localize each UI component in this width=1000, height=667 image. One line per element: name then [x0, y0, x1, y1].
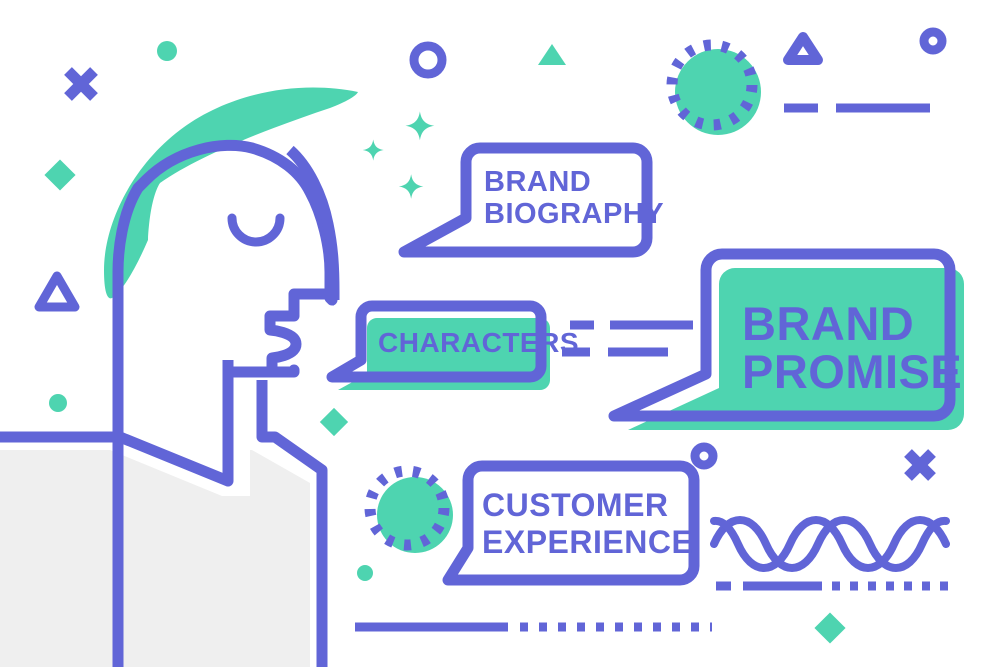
triangle-solid-icon — [538, 44, 566, 65]
bubble-brand-promise-line-2: PROMISE — [742, 345, 962, 398]
diamond-icon — [320, 408, 348, 436]
bubble-brand-biography-line-1: BRAND — [484, 166, 591, 198]
cross-mark-icon — [908, 453, 932, 477]
shoulder-fill — [0, 450, 310, 667]
bubble-customer-experience[interactable]: CUSTOMER EXPERIENCE — [448, 466, 694, 580]
bubble-brand-biography[interactable]: BRAND BIOGRAPHY — [404, 148, 664, 252]
braided-wave-icon — [714, 520, 946, 568]
bubble-customer-experience-line-1: CUSTOMER — [482, 487, 669, 523]
triangle-outline-icon — [788, 37, 818, 60]
face-profile-features — [270, 294, 334, 372]
circle-ring-icon — [695, 447, 713, 465]
dot-icon — [157, 41, 177, 61]
bubble-customer-experience-shape — [448, 466, 694, 580]
bubble-brand-biography-line-2: BIOGRAPHY — [484, 198, 664, 230]
brand-strategy-illustration: BRAND BIOGRAPHY BRAND PROMISE CHARACTERS — [0, 0, 1000, 667]
sparkle-icon — [399, 174, 423, 198]
circle-ring-icon — [924, 32, 942, 50]
dot-icon — [357, 565, 373, 581]
diamond-icon — [814, 612, 845, 643]
dot-icon — [49, 394, 67, 412]
decoration-cluster-top-right — [672, 32, 942, 135]
bubble-brand-promise[interactable]: BRAND PROMISE — [614, 254, 964, 430]
bubble-characters-line-1: CHARACTERS — [378, 327, 579, 358]
dash-line-group-mid — [562, 325, 693, 352]
triangle-outline-icon — [39, 276, 75, 307]
cross-mark-icon — [68, 71, 94, 97]
bubble-customer-experience-line-2: EXPERIENCE — [482, 524, 693, 560]
circle-ring-icon — [414, 46, 442, 74]
decoration-cluster-bubble-left — [320, 408, 453, 581]
eye-closed-icon — [232, 218, 280, 242]
bubble-characters[interactable]: CHARACTERS — [332, 306, 579, 390]
illustration-canvas: BRAND BIOGRAPHY BRAND PROMISE CHARACTERS — [0, 0, 1000, 667]
sparkle-icon — [405, 111, 434, 140]
decoration-cluster-left — [39, 41, 177, 412]
sparkle-icon — [363, 140, 384, 161]
diamond-icon — [44, 159, 75, 190]
bubble-brand-promise-line-1: BRAND — [742, 297, 914, 350]
